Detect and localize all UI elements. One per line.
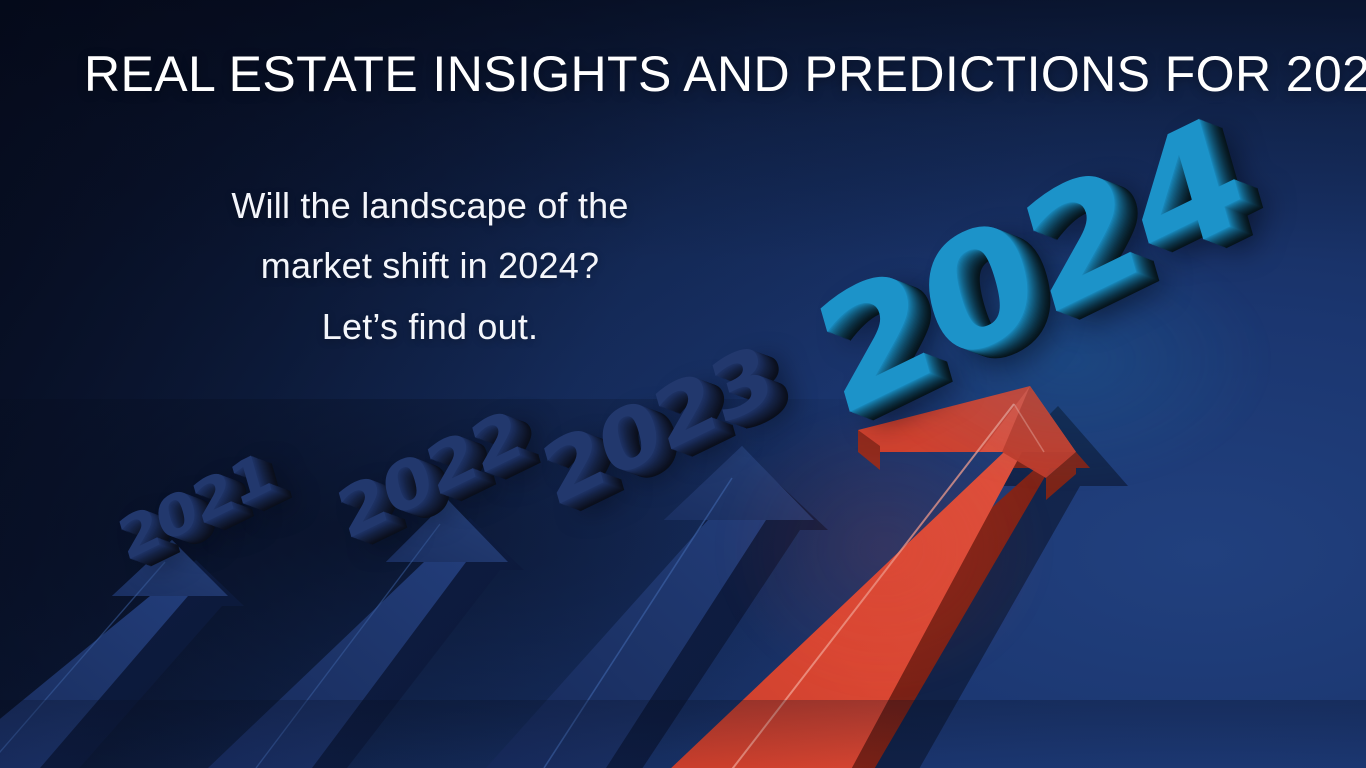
subtitle-line-1: Will the landscape of the [140,176,720,236]
subtitle-line-3: Let’s find out. [140,297,720,357]
subtitle-line-2: market shift in 2024? [140,236,720,296]
subtitle-block: Will the landscape of the market shift i… [140,176,720,357]
growth-arrows-graphic: 2021 2022 2023 2024 [0,0,1366,768]
slide-canvas: 2021 2022 2023 2024 REAL ESTATE INSIGHTS… [0,0,1366,768]
page-title: REAL ESTATE INSIGHTS AND PREDICTIONS FOR… [84,48,1366,101]
